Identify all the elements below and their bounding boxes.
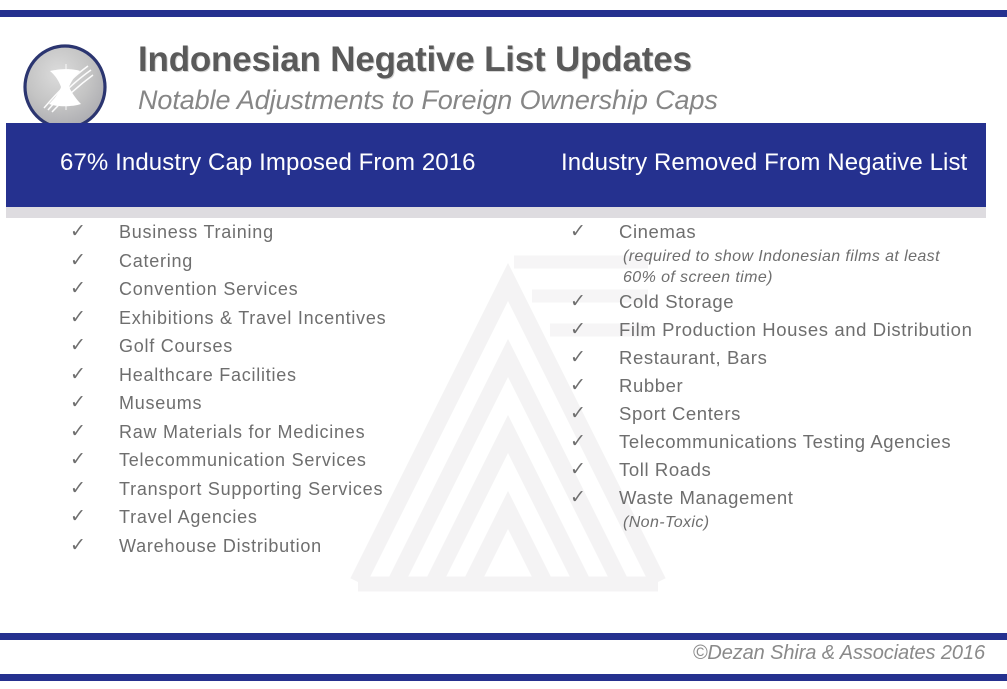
list-item: ✓ Business Training <box>62 218 532 246</box>
list-item: ✓ Waste Management (Non-Toxic) <box>562 484 992 533</box>
list-item-label: Rubber <box>619 375 683 396</box>
content-columns: ✓ Business Training ✓ Catering ✓ Convent… <box>0 218 1007 628</box>
list-item-label: Catering <box>119 251 193 271</box>
check-icon: ✓ <box>70 475 86 503</box>
infographic-page: Indonesian Negative List Updates Notable… <box>0 0 1007 689</box>
list-item-label: Healthcare Facilities <box>119 365 297 385</box>
right-list-column: ✓ Cinemas (required to show Indonesian f… <box>562 218 992 533</box>
list-item: ✓ Toll Roads <box>562 456 992 484</box>
check-icon: ✓ <box>70 389 86 417</box>
check-icon: ✓ <box>570 484 586 512</box>
check-icon: ✓ <box>70 332 86 360</box>
check-icon: ✓ <box>70 446 86 474</box>
check-icon: ✓ <box>570 316 586 344</box>
page-subtitle: Notable Adjustments to Foreign Ownership… <box>138 83 918 117</box>
dezan-shira-circular-emblem-icon <box>22 44 108 130</box>
masthead: Indonesian Negative List Updates Notable… <box>0 17 1007 121</box>
list-item-label: Film Production Houses and Distribution <box>619 319 972 340</box>
list-item-label: Restaurant, Bars <box>619 347 767 368</box>
list-item-label: Transport Supporting Services <box>119 479 383 499</box>
check-icon: ✓ <box>570 288 586 316</box>
list-item-note-line: (Non-Toxic) <box>623 512 992 533</box>
list-item: ✓ Telecommunication Services <box>62 446 532 474</box>
list-item-label: Telecommunication Services <box>119 450 367 470</box>
list-item-label: Business Training <box>119 222 274 242</box>
list-item-label: Golf Courses <box>119 336 233 356</box>
copyright-text: ©Dezan Shira & Associates 2016 <box>693 642 985 665</box>
footer-divider-rule-bottom <box>0 674 1007 681</box>
check-icon: ✓ <box>70 218 86 246</box>
check-icon: ✓ <box>570 456 586 484</box>
footer-divider-rule-top <box>0 633 1007 640</box>
check-icon: ✓ <box>70 247 86 275</box>
check-icon: ✓ <box>570 400 586 428</box>
list-item-label: Warehouse Distribution <box>119 536 322 556</box>
list-item: ✓ Restaurant, Bars <box>562 344 992 372</box>
check-icon: ✓ <box>70 361 86 389</box>
check-icon: ✓ <box>70 418 86 446</box>
list-item-label: Toll Roads <box>619 459 711 480</box>
title-block: Indonesian Negative List Updates Notable… <box>138 39 918 117</box>
list-item: ✓ Museums <box>62 389 532 417</box>
top-divider-rule <box>0 10 1007 17</box>
list-item: ✓ Cinemas (required to show Indonesian f… <box>562 218 992 288</box>
list-item-label: Telecommunications Testing Agencies <box>619 431 951 452</box>
band-underline-strip <box>6 207 986 218</box>
check-icon: ✓ <box>70 275 86 303</box>
check-icon: ✓ <box>70 532 86 560</box>
list-item: ✓ Convention Services <box>62 275 532 303</box>
check-icon: ✓ <box>570 428 586 456</box>
list-item: ✓ Catering <box>62 247 532 275</box>
list-item-label: Cinemas <box>619 221 696 242</box>
check-icon: ✓ <box>570 344 586 372</box>
list-item: ✓ Travel Agencies <box>62 503 532 531</box>
list-item-label: Cold Storage <box>619 291 734 312</box>
list-item-label: Travel Agencies <box>119 507 258 527</box>
list-item: ✓ Cold Storage <box>562 288 992 316</box>
column-heading-left: 67% Industry Cap Imposed From 2016 <box>60 149 476 177</box>
page-title: Indonesian Negative List Updates <box>138 39 918 81</box>
list-item: ✓ Healthcare Facilities <box>62 361 532 389</box>
list-item: ✓ Telecommunications Testing Agencies <box>562 428 992 456</box>
list-item-note-line: 60% of screen time) <box>623 267 992 288</box>
check-icon: ✓ <box>70 304 86 332</box>
list-item-note: (Non-Toxic) <box>619 512 992 533</box>
column-header-band: 67% Industry Cap Imposed From 2016 Indus… <box>6 123 986 207</box>
list-item-label: Museums <box>119 393 202 413</box>
check-icon: ✓ <box>70 503 86 531</box>
list-item: ✓ Raw Materials for Medicines <box>62 418 532 446</box>
list-item: ✓ Film Production Houses and Distributio… <box>562 316 992 344</box>
list-item: ✓ Exhibitions & Travel Incentives <box>62 304 532 332</box>
list-item: ✓ Sport Centers <box>562 400 992 428</box>
list-item-label: Exhibitions & Travel Incentives <box>119 308 386 328</box>
left-list-column: ✓ Business Training ✓ Catering ✓ Convent… <box>62 218 532 560</box>
list-item: ✓ Golf Courses <box>62 332 532 360</box>
list-item-label: Sport Centers <box>619 403 741 424</box>
check-icon: ✓ <box>570 218 586 246</box>
list-item-note: (required to show Indonesian films at le… <box>619 246 992 288</box>
list-item-note-line: (required to show Indonesian films at le… <box>623 246 992 267</box>
list-item-label: Raw Materials for Medicines <box>119 422 365 442</box>
column-heading-right: Industry Removed From Negative List <box>561 149 967 177</box>
list-item: ✓ Transport Supporting Services <box>62 475 532 503</box>
list-item: ✓ Rubber <box>562 372 992 400</box>
check-icon: ✓ <box>570 372 586 400</box>
list-item-label: Waste Management <box>619 487 793 508</box>
list-item: ✓ Warehouse Distribution <box>62 532 532 560</box>
list-item-label: Convention Services <box>119 279 298 299</box>
